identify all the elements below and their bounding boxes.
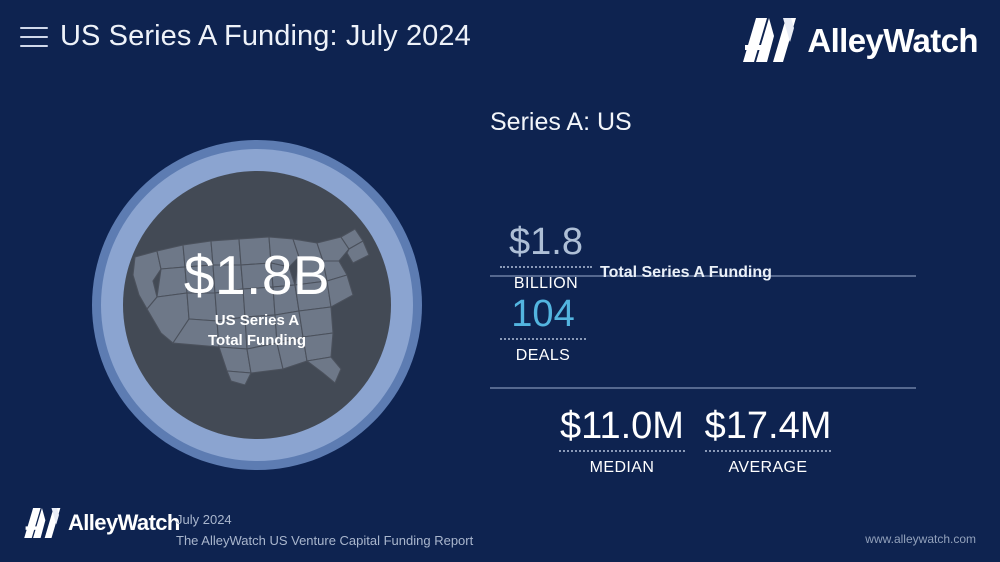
infographic-slide: US Series A Funding: July 2024 AlleyWatc…: [0, 0, 1000, 562]
alleywatch-logo-header: AlleyWatch: [743, 18, 978, 62]
stat-average-value: $17.4M: [698, 407, 838, 447]
stat-row-total-funding: $1.8 BILLION Total Series A Funding: [490, 167, 922, 275]
stat-median: $11.0M MEDIAN: [552, 407, 692, 477]
footer: AlleyWatch July 2024 The AlleyWatch US V…: [0, 492, 1000, 562]
stat-median-value: $11.0M: [552, 407, 692, 447]
alleywatch-logo-footer: AlleyWatch: [24, 508, 180, 538]
stat-deals: 104 DEALS: [500, 295, 586, 365]
stats-heading: Series A: US: [490, 108, 922, 137]
dotted-rule: [500, 338, 586, 340]
footer-date: July 2024: [176, 510, 473, 531]
stat-deals-label: DEALS: [500, 347, 586, 365]
stat-deals-value: 104: [500, 295, 586, 335]
stat-row-median-average: $11.0M MEDIAN $17.4M AVERAGE: [490, 389, 922, 494]
stat-average-label: AVERAGE: [698, 459, 838, 477]
stat-median-label: MEDIAN: [552, 459, 692, 477]
dotted-rule: [500, 266, 592, 268]
footer-website-url[interactable]: www.alleywatch.com: [865, 532, 976, 546]
united-states-map-icon: [123, 171, 391, 439]
stat-row-deals: 104 DEALS: [490, 277, 922, 387]
stat-total-funding-value: $1.8: [500, 223, 592, 263]
circle-disc: [123, 171, 391, 439]
stats-panel: Series A: US $1.8 BILLION Total Series A…: [490, 108, 922, 494]
dotted-rule: [705, 450, 831, 452]
menu-bar: [20, 45, 48, 47]
stat-average: $17.4M AVERAGE: [698, 407, 838, 477]
alleywatch-monogram-icon: [24, 508, 64, 538]
alleywatch-wordmark: AlleyWatch: [68, 512, 180, 534]
dotted-rule: [559, 450, 685, 452]
page-title: US Series A Funding: July 2024: [60, 20, 471, 53]
total-funding-circle-graphic: $1.8B US Series A Total Funding: [92, 140, 422, 470]
alleywatch-wordmark: AlleyWatch: [807, 24, 978, 57]
menu-bar: [20, 27, 48, 29]
alleywatch-monogram-icon: [743, 18, 801, 62]
menu-bar: [20, 36, 48, 38]
header: US Series A Funding: July 2024 AlleyWatc…: [0, 0, 1000, 92]
footer-report-title: The AlleyWatch US Venture Capital Fundin…: [176, 531, 473, 552]
hamburger-menu-icon[interactable]: [20, 27, 48, 49]
footer-report-info: July 2024 The AlleyWatch US Venture Capi…: [176, 510, 473, 552]
